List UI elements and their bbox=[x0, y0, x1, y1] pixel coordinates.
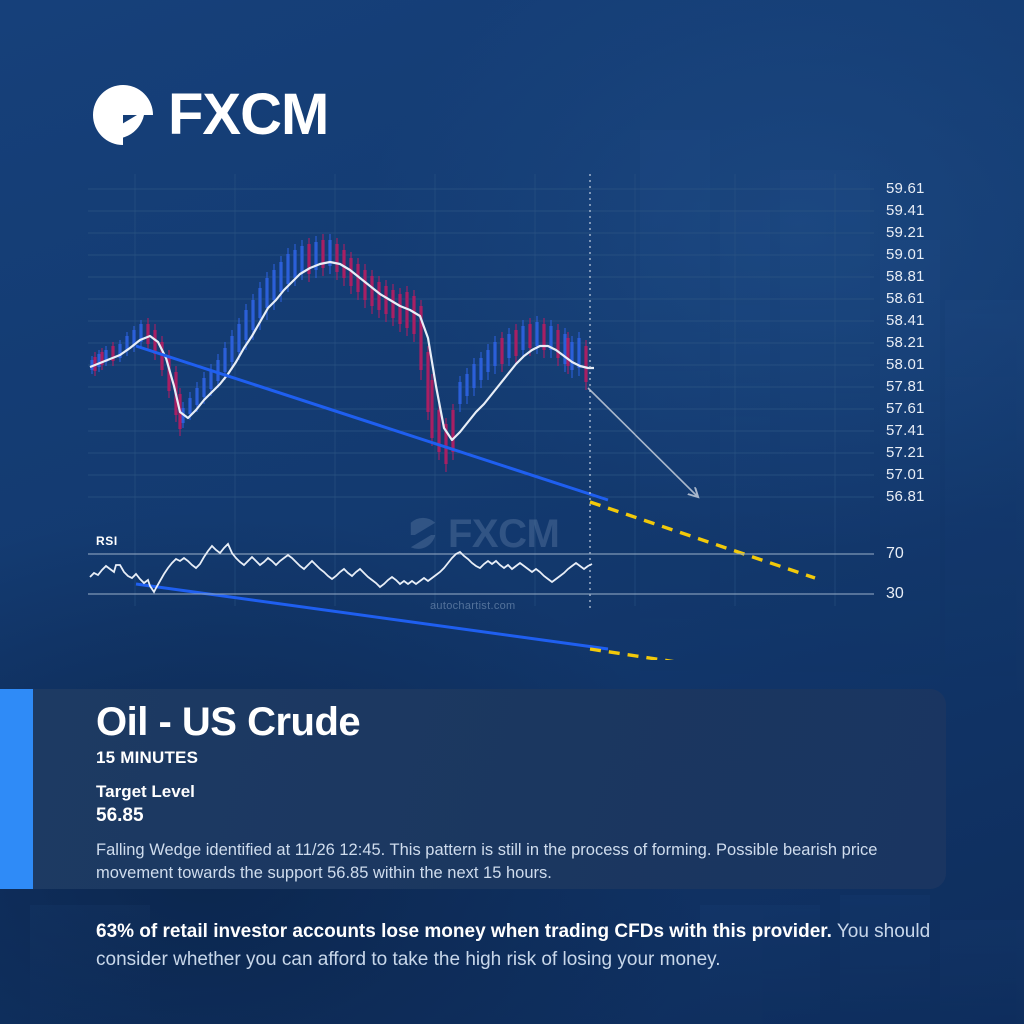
fxcm-logo: FXCM bbox=[92, 84, 328, 146]
price-label: 57.61 bbox=[886, 400, 925, 417]
price-label: 58.21 bbox=[886, 334, 925, 351]
info-card-accent-bar bbox=[0, 689, 33, 889]
info-card: Oil - US Crude 15 MINUTES Target Level 5… bbox=[33, 689, 946, 889]
poster-root: FXCM bbox=[0, 0, 1024, 1024]
pattern-description: Falling Wedge identified at 11/26 12:45.… bbox=[96, 839, 926, 884]
time-gridlines bbox=[135, 174, 835, 606]
price-label: 57.01 bbox=[886, 466, 925, 483]
instrument-title: Oil - US Crude bbox=[96, 701, 956, 744]
price-gridlines bbox=[88, 189, 874, 497]
timeframe-label: 15 MINUTES bbox=[96, 748, 956, 768]
price-chart: 59.61 59.41 59.21 59.01 58.81 58.61 58.4… bbox=[0, 160, 1024, 660]
target-arrow-icon bbox=[588, 388, 697, 496]
price-label: 59.41 bbox=[886, 202, 925, 219]
upper-projection-line bbox=[590, 502, 815, 578]
price-label: 58.61 bbox=[886, 290, 925, 307]
candlestick-series bbox=[92, 234, 586, 472]
rsi-line bbox=[90, 544, 592, 592]
price-label: 57.21 bbox=[886, 444, 925, 461]
upper-trendline bbox=[136, 346, 608, 500]
rsi-panel bbox=[88, 544, 874, 594]
risk-disclaimer: 63% of retail investor accounts lose mon… bbox=[96, 918, 976, 973]
price-label: 57.81 bbox=[886, 378, 925, 395]
risk-disclaimer-bold: 63% of retail investor accounts lose mon… bbox=[96, 921, 832, 942]
price-label: 58.41 bbox=[886, 312, 925, 329]
price-label: 56.81 bbox=[886, 488, 925, 505]
price-label: 59.21 bbox=[886, 224, 925, 241]
fxcm-logo-icon bbox=[92, 84, 154, 146]
target-level-value: 56.85 bbox=[96, 805, 956, 827]
lower-projection-line bbox=[590, 649, 815, 660]
target-level-label: Target Level bbox=[96, 782, 956, 802]
price-label: 58.01 bbox=[886, 356, 925, 373]
price-label: 57.41 bbox=[886, 422, 925, 439]
rsi-level-30: 30 bbox=[886, 585, 904, 603]
autochartist-watermark: autochartist.com bbox=[430, 600, 516, 612]
price-label: 58.81 bbox=[886, 268, 925, 285]
chart-canvas bbox=[0, 160, 1024, 660]
price-label: 59.01 bbox=[886, 246, 925, 263]
price-label: 59.61 bbox=[886, 180, 925, 197]
rsi-title: RSI bbox=[96, 534, 118, 548]
rsi-level-70: 70 bbox=[886, 545, 904, 563]
fxcm-wordmark: FXCM bbox=[168, 86, 328, 144]
